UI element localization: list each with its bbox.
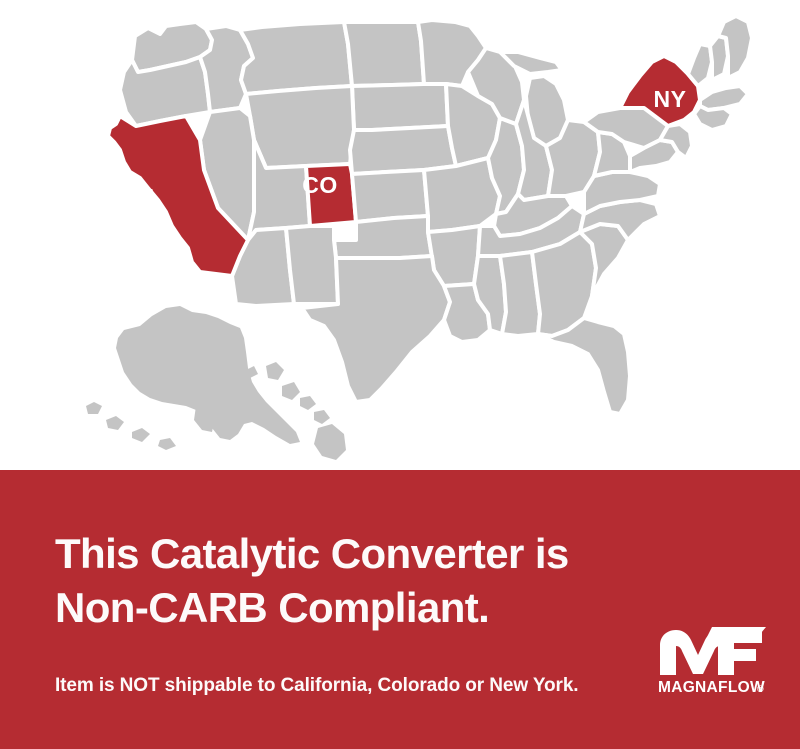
headline-line-2: Non-CARB Compliant. (55, 581, 655, 635)
state-connecticut (694, 106, 732, 130)
state-oregon (120, 57, 210, 126)
registered-trademark-icon: ® (757, 684, 764, 694)
banner-headline: This Catalytic Converter is Non-CARB Com… (55, 527, 655, 635)
state-south-dakota (352, 84, 448, 130)
non-carb-banner: This Catalytic Converter is Non-CARB Com… (0, 470, 800, 749)
state-vermont (688, 44, 712, 86)
state-north-dakota (344, 22, 424, 86)
state-label-ca: CA (125, 184, 159, 210)
state-new-mexico (286, 226, 338, 304)
state-label-ny: NY (654, 86, 687, 112)
alaska-aleutian-islands (86, 402, 176, 450)
usa-map-panel: CA CO NY (0, 0, 800, 470)
usa-map-graphic: CA CO NY (0, 0, 800, 470)
state-kansas (352, 170, 428, 222)
magnaflow-logo: MAGNAFLOW ® (656, 625, 768, 697)
magnaflow-wordmark: MAGNAFLOW (658, 679, 765, 696)
banner-subline: Item is NOT shippable to California, Col… (55, 675, 578, 697)
state-label-co: CO (302, 172, 338, 198)
mf-monogram-icon: MAGNAFLOW ® (656, 625, 768, 697)
non-carb-compliant-notice: CA CO NY This Catalytic Converter is Non… (0, 0, 800, 749)
state-montana (240, 22, 352, 94)
headline-line-1: This Catalytic Converter is (55, 527, 655, 581)
